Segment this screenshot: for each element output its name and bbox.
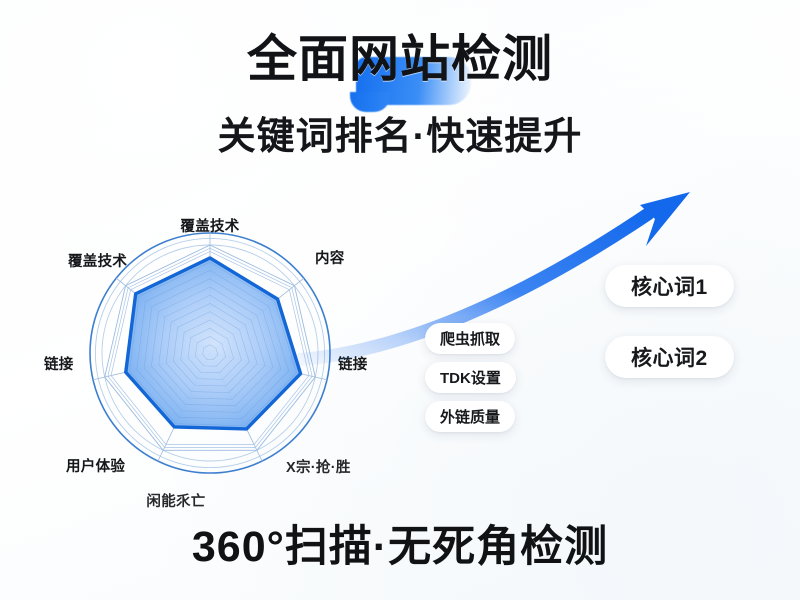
page-title: 全面网站检测	[0, 34, 800, 84]
keyword-pill-1[interactable]: 核心词1	[605, 265, 734, 307]
keyword-pill-label: 核心词1	[631, 271, 708, 301]
keyword-pill-2[interactable]: 核心词2	[605, 336, 734, 378]
check-pill-crawl[interactable]: 爬虫抓取	[425, 323, 515, 354]
check-pill-label: TDK设置	[440, 367, 501, 388]
check-pill-label: 爬虫抓取	[440, 328, 500, 349]
keyword-pill-label: 核心词2	[631, 342, 708, 372]
poster-canvas: 全面网站检测 关键词排名·快速提升 覆盖技术内容链接X宗·抢·胜闲能乑亡用户体验…	[0, 0, 800, 600]
radar-axis-label-7: 覆盖技术	[68, 250, 127, 271]
radar-axis-label-4: 闲能乑亡	[146, 490, 205, 511]
radar-chart: 覆盖技术内容链接X宗·抢·胜闲能乑亡用户体验链接覆盖技术	[30, 196, 400, 506]
arrow-head	[640, 192, 690, 246]
check-pill-tdk[interactable]: TDK设置	[425, 362, 516, 393]
check-pill-backlink[interactable]: 外链质量	[425, 401, 515, 432]
title-wrap: 全面网站检测	[0, 34, 800, 84]
footer-headline: 360°扫描·无死角检测	[0, 526, 800, 569]
radar-axis-label-0: 覆盖技术	[180, 215, 239, 236]
check-pill-label: 外链质量	[440, 406, 500, 427]
page-subtitle: 关键词排名·快速提升	[0, 118, 800, 156]
radar-axis-label-3: X宗·抢·胜	[286, 456, 351, 477]
radar-axis-label-6: 链接	[44, 353, 74, 374]
radar-axis-label-1: 内容	[315, 247, 345, 268]
radar-axis-label-2: 链接	[338, 353, 368, 374]
radar-axis-label-5: 用户体验	[66, 455, 125, 476]
